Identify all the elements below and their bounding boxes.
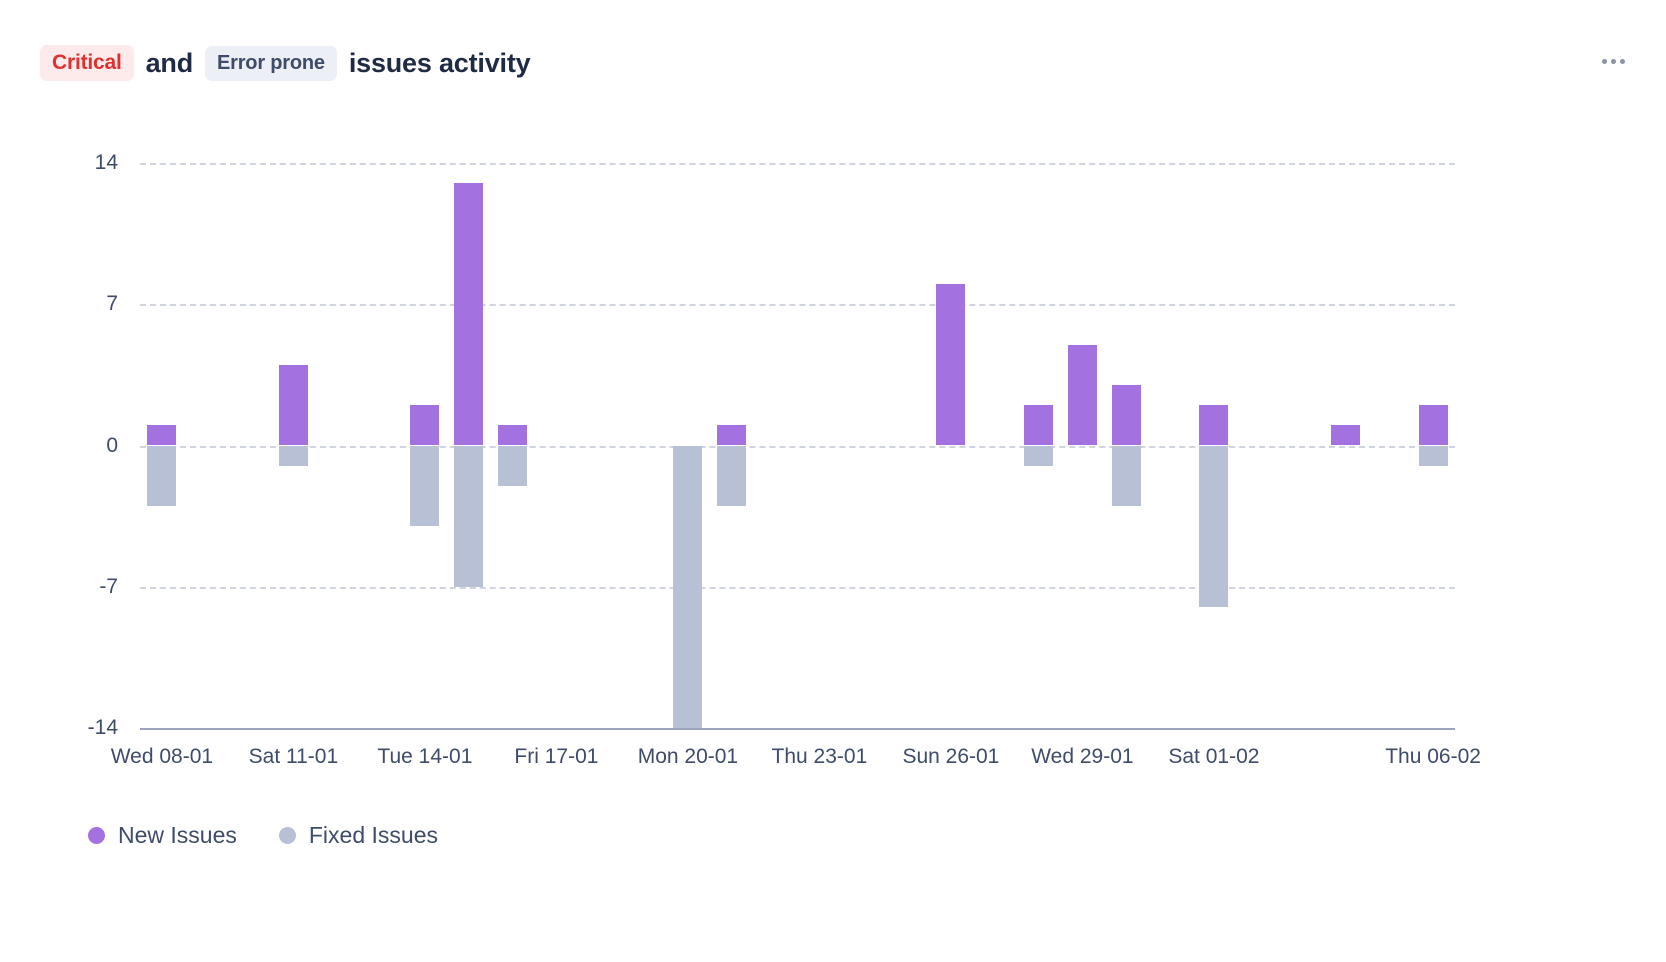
issues-activity-chart-card: Critical and Error prone issues activity… xyxy=(0,0,1666,962)
y-axis-tick-label: 0 xyxy=(28,434,118,458)
bar-new-issues[interactable] xyxy=(1024,405,1053,445)
x-axis-tick-label: Mon 20-01 xyxy=(638,745,738,769)
x-axis-tick-label: Thu 06-02 xyxy=(1385,745,1481,769)
bar-new-issues[interactable] xyxy=(147,425,176,445)
bar-group[interactable] xyxy=(1199,163,1228,728)
bar-group[interactable] xyxy=(1024,163,1053,728)
chart-canvas: 1470-7-14 Wed 08-01Sat 11-01Tue 14-01Fri… xyxy=(0,0,1666,820)
bar-fixed-issues[interactable] xyxy=(673,446,702,729)
bar-new-issues[interactable] xyxy=(410,405,439,445)
bar-fixed-issues[interactable] xyxy=(454,446,483,587)
bar-group[interactable] xyxy=(454,163,483,728)
bar-group[interactable] xyxy=(717,163,746,728)
bar-new-issues[interactable] xyxy=(1419,405,1448,445)
bar-fixed-issues[interactable] xyxy=(498,446,527,486)
bar-fixed-issues[interactable] xyxy=(1199,446,1228,607)
bar-fixed-issues[interactable] xyxy=(1024,446,1053,466)
legend-dot-icon xyxy=(88,827,105,844)
bar-fixed-issues[interactable] xyxy=(1112,446,1141,507)
x-axis-tick-label: Sat 11-01 xyxy=(249,745,339,769)
bar-fixed-issues[interactable] xyxy=(147,446,176,507)
bar-new-issues[interactable] xyxy=(717,425,746,445)
bar-fixed-issues[interactable] xyxy=(717,446,746,507)
x-axis-tick-label: Tue 14-01 xyxy=(377,745,472,769)
x-axis-tick-label: Thu 23-01 xyxy=(772,745,868,769)
bar-fixed-issues[interactable] xyxy=(279,446,308,466)
gridline--14 xyxy=(140,728,1455,730)
bar-new-issues[interactable] xyxy=(936,284,965,445)
bars-group xyxy=(140,163,1455,728)
bar-new-issues[interactable] xyxy=(279,365,308,446)
legend-label: Fixed Issues xyxy=(309,822,438,849)
legend-item-fixed-issues[interactable]: Fixed Issues xyxy=(279,822,438,849)
bar-new-issues[interactable] xyxy=(1331,425,1360,445)
bar-group[interactable] xyxy=(498,163,527,728)
bar-group[interactable] xyxy=(936,163,965,728)
bar-new-issues[interactable] xyxy=(498,425,527,445)
y-axis-tick-label: -14 xyxy=(28,716,118,740)
chart-legend: New IssuesFixed Issues xyxy=(88,822,438,849)
legend-dot-icon xyxy=(279,827,296,844)
y-axis-tick-label: 7 xyxy=(28,292,118,316)
bar-group[interactable] xyxy=(1331,163,1360,728)
legend-item-new-issues[interactable]: New Issues xyxy=(88,822,237,849)
bar-fixed-issues[interactable] xyxy=(1419,446,1448,466)
bar-new-issues[interactable] xyxy=(1199,405,1228,445)
legend-label: New Issues xyxy=(118,822,237,849)
bar-group[interactable] xyxy=(1112,163,1141,728)
x-axis-tick-label: Sun 26-01 xyxy=(902,745,999,769)
x-axis-tick-label: Sat 01-02 xyxy=(1168,745,1259,769)
y-axis-tick-label: 14 xyxy=(28,151,118,175)
bar-group[interactable] xyxy=(673,163,702,728)
x-axis-tick-label: Fri 17-01 xyxy=(514,745,598,769)
plot-area xyxy=(140,163,1455,728)
bar-group[interactable] xyxy=(1419,163,1448,728)
bar-group[interactable] xyxy=(1068,163,1097,728)
bar-new-issues[interactable] xyxy=(1112,385,1141,446)
x-axis-tick-label: Wed 29-01 xyxy=(1031,745,1133,769)
x-axis-tick-label: Wed 08-01 xyxy=(111,745,213,769)
bar-group[interactable] xyxy=(147,163,176,728)
bar-group[interactable] xyxy=(410,163,439,728)
x-axis-labels: Wed 08-01Sat 11-01Tue 14-01Fri 17-01Mon … xyxy=(0,745,1666,785)
bar-new-issues[interactable] xyxy=(1068,345,1097,446)
bar-new-issues[interactable] xyxy=(454,183,483,445)
bar-group[interactable] xyxy=(279,163,308,728)
y-axis-tick-label: -7 xyxy=(28,575,118,599)
bar-fixed-issues[interactable] xyxy=(410,446,439,527)
